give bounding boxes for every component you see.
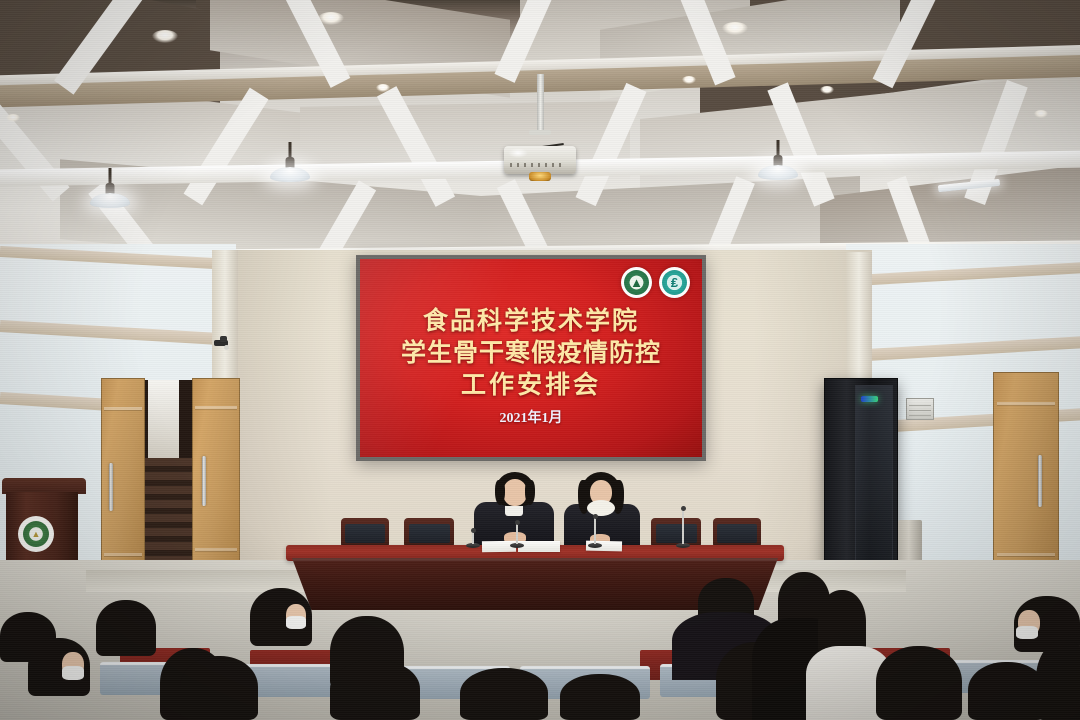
stage-chair-1[interactable] <box>341 518 389 546</box>
slide-date: 2021年1月 <box>360 407 702 427</box>
door-left-leaf-a[interactable] <box>101 378 145 579</box>
projector-mount-pole <box>537 74 544 132</box>
slide-subject-line: 工作安排会 <box>360 365 702 401</box>
microphone-4[interactable] <box>676 506 690 548</box>
downlight-8 <box>1034 110 1048 118</box>
door-handle-left-b[interactable] <box>202 456 206 506</box>
downlight-2 <box>318 12 344 25</box>
door-right[interactable] <box>993 372 1059 580</box>
projector-lens <box>529 172 551 181</box>
rack-glass-door[interactable] <box>855 385 892 562</box>
college-emblem-glyph: ₤ <box>671 276 678 289</box>
audience-person-10 <box>560 674 640 720</box>
slide-org-line: 食品科学技术学院 <box>360 301 702 337</box>
audience-person-17 <box>968 662 1046 720</box>
audience-person-2 <box>28 638 90 696</box>
projection-screen[interactable]: ▲ ₤ 食品科学技术学院 学生骨干寒假疫情防控 工作安排会 2021年1月 <box>356 255 706 461</box>
stage-chair-4[interactable] <box>713 518 761 546</box>
door-handle-left-a[interactable] <box>109 463 113 511</box>
microphone-3[interactable] <box>588 514 602 548</box>
door-left-leaf-b[interactable] <box>192 378 240 573</box>
downlight-4 <box>6 114 20 122</box>
screen-surface: ▲ ₤ 食品科学技术学院 学生骨干寒假疫情防控 工作安排会 2021年1月 <box>360 259 702 457</box>
pendant-lamp-2 <box>268 142 312 192</box>
speaker-left-face <box>503 479 527 506</box>
door-handle-right[interactable] <box>1038 455 1042 507</box>
university-emblem-glyph: ▲ <box>630 276 643 289</box>
speaker-left-hair-right <box>525 480 535 505</box>
audience-mask-2 <box>286 616 306 629</box>
slide-topic-line: 学生骨干寒假疫情防控 <box>360 333 702 369</box>
stairwell-window <box>148 380 179 462</box>
downlight-3 <box>722 22 748 35</box>
speaker-right <box>560 472 646 550</box>
audience-person-18 <box>1036 640 1080 720</box>
projector-indicator-glow <box>508 148 528 158</box>
downlight-6 <box>682 76 696 84</box>
audience-mask-1 <box>62 666 84 680</box>
speaker-left-hair-left <box>495 480 505 505</box>
server-rack <box>824 378 898 568</box>
downlight-5 <box>376 84 390 92</box>
audience-person-5 <box>250 588 312 646</box>
ceiling <box>0 0 1080 262</box>
projector-mount-plate <box>529 130 551 135</box>
lectern-seal-glyph: ▲ <box>32 529 41 539</box>
audience-mask-3 <box>1016 626 1038 639</box>
audience-person-3 <box>96 600 156 656</box>
wall-camera <box>212 336 230 349</box>
conference-hall-photo: ▲ ₤ 食品科学技术学院 学生骨干寒假疫情防控 工作安排会 2021年1月 <box>0 0 1080 720</box>
university-emblem-icon: ▲ <box>621 267 652 298</box>
audience-person-9 <box>460 668 548 720</box>
audience-person-8 <box>330 660 420 720</box>
lectern-seal: ▲ <box>18 516 54 552</box>
downlight-7 <box>820 86 834 94</box>
stage-chair-2[interactable] <box>404 518 454 546</box>
electrical-panel <box>906 398 934 420</box>
pendant-lamp-3 <box>756 140 800 190</box>
college-emblem-icon: ₤ <box>659 267 690 298</box>
microphone-2[interactable] <box>510 520 524 548</box>
pendant-lamp-1 <box>88 168 132 218</box>
audience-person-15 <box>876 646 962 720</box>
document-center[interactable] <box>518 541 560 552</box>
microphone-1[interactable] <box>466 528 480 548</box>
downlight-1 <box>152 30 178 43</box>
audience-person-7 <box>180 656 258 720</box>
rack-status-led <box>861 396 878 402</box>
